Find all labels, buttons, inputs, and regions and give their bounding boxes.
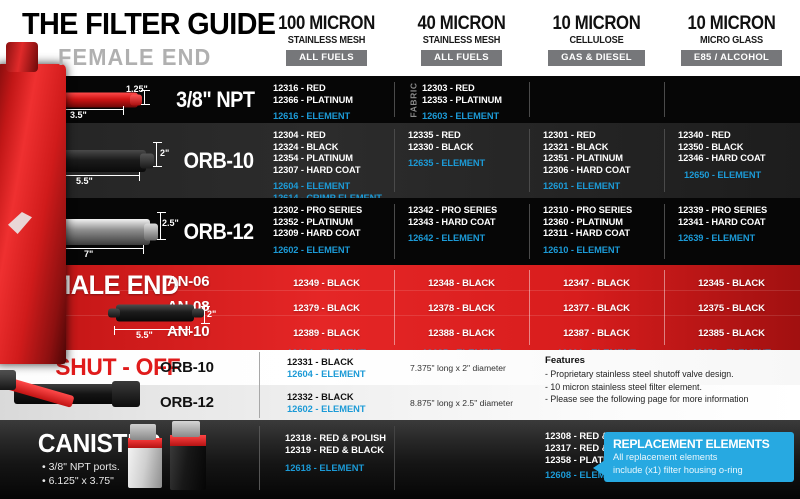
part-number: 12349 - BLACK xyxy=(259,271,394,296)
part-number: 12366 - PLATINUM xyxy=(273,95,394,107)
female-end-table: 3.5" 1.25" 3/8" NPT 12316 - RED 12366 - … xyxy=(0,76,800,265)
cell-40micron: FABRIC 12303 - RED 12353 - PLATINUM 1260… xyxy=(394,76,529,123)
column-divider xyxy=(259,426,260,490)
column-header-4: 10 MICRON MICRO GLASS E85 / ALCOHOL xyxy=(664,10,799,72)
row-cells: 12304 - RED 12324 - BLACK 12354 - PLATIN… xyxy=(259,123,800,198)
part-number: 12353 - PLATINUM xyxy=(422,95,529,107)
row-label-an06: AN-06 xyxy=(167,269,257,294)
feature-item: - Proprietary stainless steel shutoff va… xyxy=(545,368,748,381)
part-number: 12306 - HARD COAT xyxy=(543,165,664,177)
part-number: 12345 - BLACK xyxy=(664,271,799,296)
part-number: 12316 - RED xyxy=(273,83,394,95)
canister-parts-col1: 12318 - RED & POLISH 12319 - RED & BLACK… xyxy=(285,432,386,473)
column-headers: 100 MICRON STAINLESS MESH ALL FUELS 40 M… xyxy=(259,10,800,72)
cell-100micron: 12349 - BLACK 12379 - BLACK 12389 - BLAC… xyxy=(259,265,394,350)
part-number-element: 12639 - ELEMENT xyxy=(678,233,799,245)
column-divider xyxy=(394,426,395,490)
column-fuel-badge: ALL FUELS xyxy=(286,50,367,66)
callout-line-2: include (x1) filter housing o-ring xyxy=(604,464,794,477)
table-row: 7" 2.5" ORB-12 12302 - PRO SERIES 12352 … xyxy=(0,198,800,265)
part-number: 12377 - BLACK xyxy=(529,296,664,321)
dim-length: 5.5" xyxy=(76,176,93,186)
part-number: 12348 - BLACK xyxy=(394,271,529,296)
cell-10micron-cellulose xyxy=(529,76,664,123)
part-number: 12310 - PRO SERIES xyxy=(543,205,664,217)
part-number: 12378 - BLACK xyxy=(394,296,529,321)
part-number: 12307 - HARD COAT xyxy=(273,165,394,177)
part-number: 12321 - BLACK xyxy=(543,142,664,154)
features-heading: Features xyxy=(545,355,748,366)
part-number: 12340 - RED xyxy=(678,130,799,142)
part-number: 12354 - PLATINUM xyxy=(273,153,394,165)
part-number: 12311 - HARD COAT xyxy=(543,228,664,240)
column-micron-label: 40 MICRON xyxy=(402,14,521,34)
features-block: Features - Proprietary stainless steel s… xyxy=(545,355,748,406)
title-block: THE FILTER GUIDE FEMALE END xyxy=(22,8,294,71)
cell-10micron-microglass: 12345 - BLACK 12375 - BLACK 12385 - BLAC… xyxy=(664,265,799,350)
part-number-element: 12604 - ELEMENT xyxy=(273,181,394,193)
part-number: 12388 - BLACK xyxy=(394,321,529,346)
male-end-cells: 12349 - BLACK 12379 - BLACK 12389 - BLAC… xyxy=(259,265,800,350)
filter-photo-orb10: 5.5" 2" xyxy=(48,123,176,198)
feature-item: - 10 micron stainless steel filter eleme… xyxy=(545,381,748,394)
part-number: 12350 - BLACK xyxy=(678,142,799,154)
dim-diameter: 2.5" xyxy=(162,218,179,228)
cell-100micron: 12302 - PRO SERIES 12352 - PLATINUM 1230… xyxy=(259,198,394,265)
part-number: 12309 - HARD COAT xyxy=(273,228,394,240)
table-row: 5.5" 2" ORB-10 12304 - RED 12324 - BLACK… xyxy=(0,123,800,198)
shut-off-dimension-orb10: 7.375" long x 2" diameter xyxy=(410,363,506,373)
part-number: 12360 - PLATINUM xyxy=(543,217,664,229)
dim-diameter: 1.25" xyxy=(126,84,148,94)
canister-photo-polish-bracket xyxy=(130,424,156,440)
column-micron-label: 10 MICRON xyxy=(537,14,656,34)
shut-off-parts-orb12: 12332 - BLACK 12602 - ELEMENT xyxy=(287,392,366,415)
part-number: 12331 - BLACK xyxy=(287,357,366,369)
shut-off-section: SHUT - OFF ORB-10 ORB-12 12331 - BLACK 1… xyxy=(0,350,800,420)
cell-10micron-microglass: 12340 - RED 12350 - BLACK 12346 - HARD C… xyxy=(664,123,799,198)
column-fuel-badge: E85 / ALCOHOL xyxy=(681,50,782,66)
filter-photo-male: 5.5" 2" xyxy=(108,293,228,333)
column-micron-label: 10 MICRON xyxy=(672,14,791,34)
shut-off-parts-orb10: 12331 - BLACK 12604 - ELEMENT xyxy=(287,357,366,380)
part-number: 12339 - PRO SERIES xyxy=(678,205,799,217)
part-number: 12389 - BLACK xyxy=(259,321,394,346)
part-number-element: 12616 - ELEMENT xyxy=(273,111,394,123)
part-number: 12343 - HARD COAT xyxy=(408,217,529,229)
part-number: 12304 - RED xyxy=(273,130,394,142)
column-material-label: STAINLESS MESH xyxy=(399,35,523,46)
callout-line-1: All replacement elements xyxy=(604,451,794,464)
part-number-element: 12604 - ELEMENT xyxy=(287,369,366,381)
dim-diameter: 2" xyxy=(207,309,216,319)
part-number-element: 12602 - ELEMENT xyxy=(273,245,394,257)
part-number: 12352 - PLATINUM xyxy=(273,217,394,229)
part-number: 12379 - BLACK xyxy=(259,296,394,321)
cell-100micron: 12316 - RED 12366 - PLATINUM 12616 - ELE… xyxy=(259,76,394,123)
column-material-label: CELLULOSE xyxy=(534,35,658,46)
part-number: 12346 - HARD COAT xyxy=(678,153,799,165)
column-divider xyxy=(259,352,260,418)
page-title: THE FILTER GUIDE xyxy=(22,8,275,39)
part-number: 12342 - PRO SERIES xyxy=(408,205,529,217)
cell-40micron: 12342 - PRO SERIES 12343 - HARD COAT 126… xyxy=(394,198,529,265)
canister-photo-black xyxy=(170,442,206,490)
hero-filter-photo xyxy=(0,64,66,364)
row-label-shut-orb10: ORB-10 xyxy=(160,359,214,376)
dim-length: 3.5" xyxy=(70,110,87,120)
part-number: 12301 - RED xyxy=(543,130,664,142)
part-number: 12332 - BLACK xyxy=(287,392,366,404)
column-material-label: MICRO GLASS xyxy=(669,35,793,46)
canister-bullet: • 6.125" x 3.75" xyxy=(42,475,114,487)
part-number: 12318 - RED & POLISH xyxy=(285,432,386,444)
fabric-label: FABRIC xyxy=(409,82,419,117)
part-number-element: 12610 - ELEMENT xyxy=(543,245,664,257)
row-label-orb10: ORB-10 xyxy=(180,148,254,174)
part-number: 12387 - BLACK xyxy=(529,321,664,346)
filter-guide-page: THE FILTER GUIDE FEMALE END 100 MICRON S… xyxy=(0,0,800,499)
cell-40micron: 12348 - BLACK 12378 - BLACK 12388 - BLAC… xyxy=(394,265,529,350)
part-number: 12324 - BLACK xyxy=(273,142,394,154)
part-number: 12351 - PLATINUM xyxy=(543,153,664,165)
column-fuel-badge: ALL FUELS xyxy=(421,50,502,66)
row-label-shut-orb12: ORB-12 xyxy=(160,394,214,411)
part-number-element: 12602 - ELEMENT xyxy=(287,404,366,416)
canister-photo-black-bracket xyxy=(172,421,200,437)
feature-item: - Please see the following page for more… xyxy=(545,393,748,406)
replacement-elements-callout: REPLACEMENT ELEMENTS All replacement ele… xyxy=(604,432,794,482)
cell-100micron: 12304 - RED 12324 - BLACK 12354 - PLATIN… xyxy=(259,123,394,198)
shut-off-dimension-orb12: 8.875" long x 2.5" diameter xyxy=(410,398,513,408)
filter-photo-orb12: 7" 2.5" xyxy=(48,198,176,265)
dim-length: 5.5" xyxy=(136,330,153,340)
part-number: 12335 - RED xyxy=(408,130,529,142)
part-number: 12319 - RED & BLACK xyxy=(285,444,386,456)
table-row: 3.5" 1.25" 3/8" NPT 12316 - RED 12366 - … xyxy=(0,76,800,123)
part-number: 12303 - RED xyxy=(422,83,529,95)
part-number: 12375 - BLACK xyxy=(664,296,799,321)
canister-photo-polish xyxy=(128,444,162,488)
callout-heading: REPLACEMENT ELEMENTS xyxy=(604,432,794,451)
male-end-section: MALE END AN-06 AN-08 AN-10 5.5" 2" 12349… xyxy=(0,265,800,350)
row-label-orb12: ORB-12 xyxy=(180,219,254,245)
cell-10micron-cellulose: 12347 - BLACK 12377 - BLACK 12387 - BLAC… xyxy=(529,265,664,350)
part-number-element: 12601 - ELEMENT xyxy=(543,181,664,193)
dim-length: 7" xyxy=(84,249,93,259)
row-label-npt: 3/8" NPT xyxy=(172,87,254,113)
cell-40micron: 12335 - RED 12330 - BLACK 12635 - ELEMEN… xyxy=(394,123,529,198)
cell-10micron-cellulose: 12310 - PRO SERIES 12360 - PLATINUM 1231… xyxy=(529,198,664,265)
cell-10micron-cellulose: 12301 - RED 12321 - BLACK 12351 - PLATIN… xyxy=(529,123,664,198)
part-number-element: 12650 - ELEMENT xyxy=(684,170,799,182)
part-number-element: 12618 - ELEMENT xyxy=(285,462,386,474)
part-number-element: 12603 - ELEMENT xyxy=(422,111,529,123)
section-title-female-end: FEMALE END xyxy=(58,44,283,71)
cell-10micron-microglass xyxy=(664,76,799,123)
part-number: 12385 - BLACK xyxy=(664,321,799,346)
canister-bullet: • 3/8" NPT ports. xyxy=(42,461,120,473)
column-fuel-badge: GAS & DIESEL xyxy=(548,50,645,66)
column-header-2: 40 MICRON STAINLESS MESH ALL FUELS xyxy=(394,10,529,72)
part-number-element: 12642 - ELEMENT xyxy=(408,233,529,245)
row-cells: 12302 - PRO SERIES 12352 - PLATINUM 1230… xyxy=(259,198,800,265)
column-header-3: 10 MICRON CELLULOSE GAS & DIESEL xyxy=(529,10,664,72)
dim-diameter: 2" xyxy=(160,148,169,158)
cell-10micron-microglass: 12339 - PRO SERIES 12341 - HARD COAT 126… xyxy=(664,198,799,265)
part-number: 12330 - BLACK xyxy=(408,142,529,154)
part-number: 12302 - PRO SERIES xyxy=(273,205,394,217)
part-number: 12347 - BLACK xyxy=(529,271,664,296)
row-cells: 12316 - RED 12366 - PLATINUM 12616 - ELE… xyxy=(259,76,800,123)
shut-off-valve-photo xyxy=(0,368,142,416)
part-number: 12341 - HARD COAT xyxy=(678,217,799,229)
part-number-element: 12635 - ELEMENT xyxy=(408,158,529,170)
